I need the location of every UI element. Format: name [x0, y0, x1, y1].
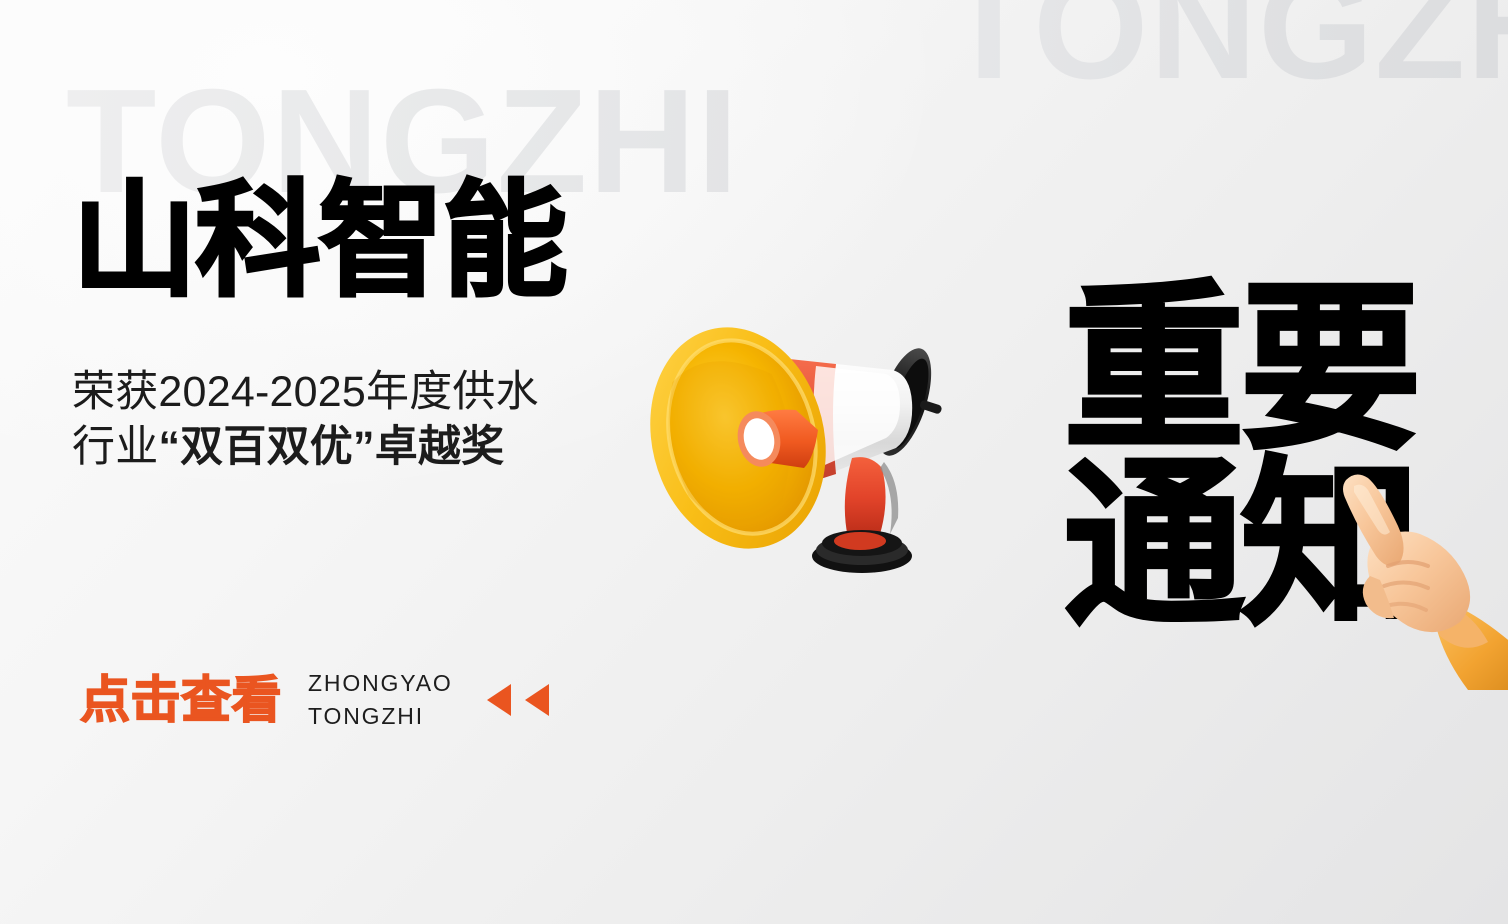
pointing-hand-icon — [1336, 470, 1508, 690]
left-text-block: 山科智能 荣获2024-2025年度供水 行业“双百双优”卓越奖 — [72, 176, 712, 476]
click-to-view-cta[interactable]: 点击查看 ZHONGYAO TONGZHI — [80, 667, 549, 732]
brand-title: 山科智能 — [72, 176, 712, 309]
watermark-text-top-right: TONGZHI — [944, 0, 1508, 102]
award-subtitle: 荣获2024-2025年度供水 行业“双百双优”卓越奖 — [72, 365, 712, 477]
subtitle-line-2: 行业“双百双优”卓越奖 — [72, 420, 712, 476]
cta-label[interactable]: 点击查看 — [80, 675, 282, 725]
cta-pinyin: ZHONGYAO TONGZHI — [308, 667, 453, 732]
subtitle-line2-suffix: 卓越奖 — [375, 423, 505, 471]
triangle-left-icon[interactable] — [525, 684, 549, 716]
notice-banner: TONGZHI TONGZHI — [0, 0, 1508, 924]
subtitle-line2-quoted: “双百双优” — [158, 423, 374, 471]
subtitle-line-1: 荣获2024-2025年度供水 — [72, 368, 539, 416]
cta-pinyin-line-2: TONGZHI — [308, 700, 453, 733]
cta-pinyin-line-1: ZHONGYAO — [308, 667, 453, 700]
headline-line-1: 重要 — [1064, 282, 1418, 458]
cta-arrow-group[interactable] — [487, 684, 549, 716]
triangle-left-icon[interactable] — [487, 684, 511, 716]
subtitle-line2-prefix: 行业 — [72, 423, 158, 471]
